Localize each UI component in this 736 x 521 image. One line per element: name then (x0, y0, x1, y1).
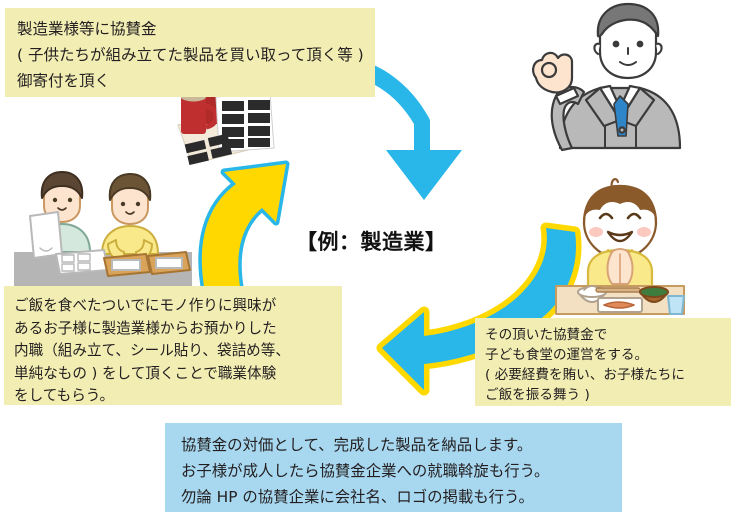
diagram-center-caption: 【例：製造業】 (296, 226, 447, 256)
caption-layer: 【例：製造業】 (0, 0, 736, 521)
diagram-canvas: 製造業様等に協賛金 ( 子供たちが組み立てた製品を買い取って頂く等 ) 御寄付を… (0, 0, 736, 521)
